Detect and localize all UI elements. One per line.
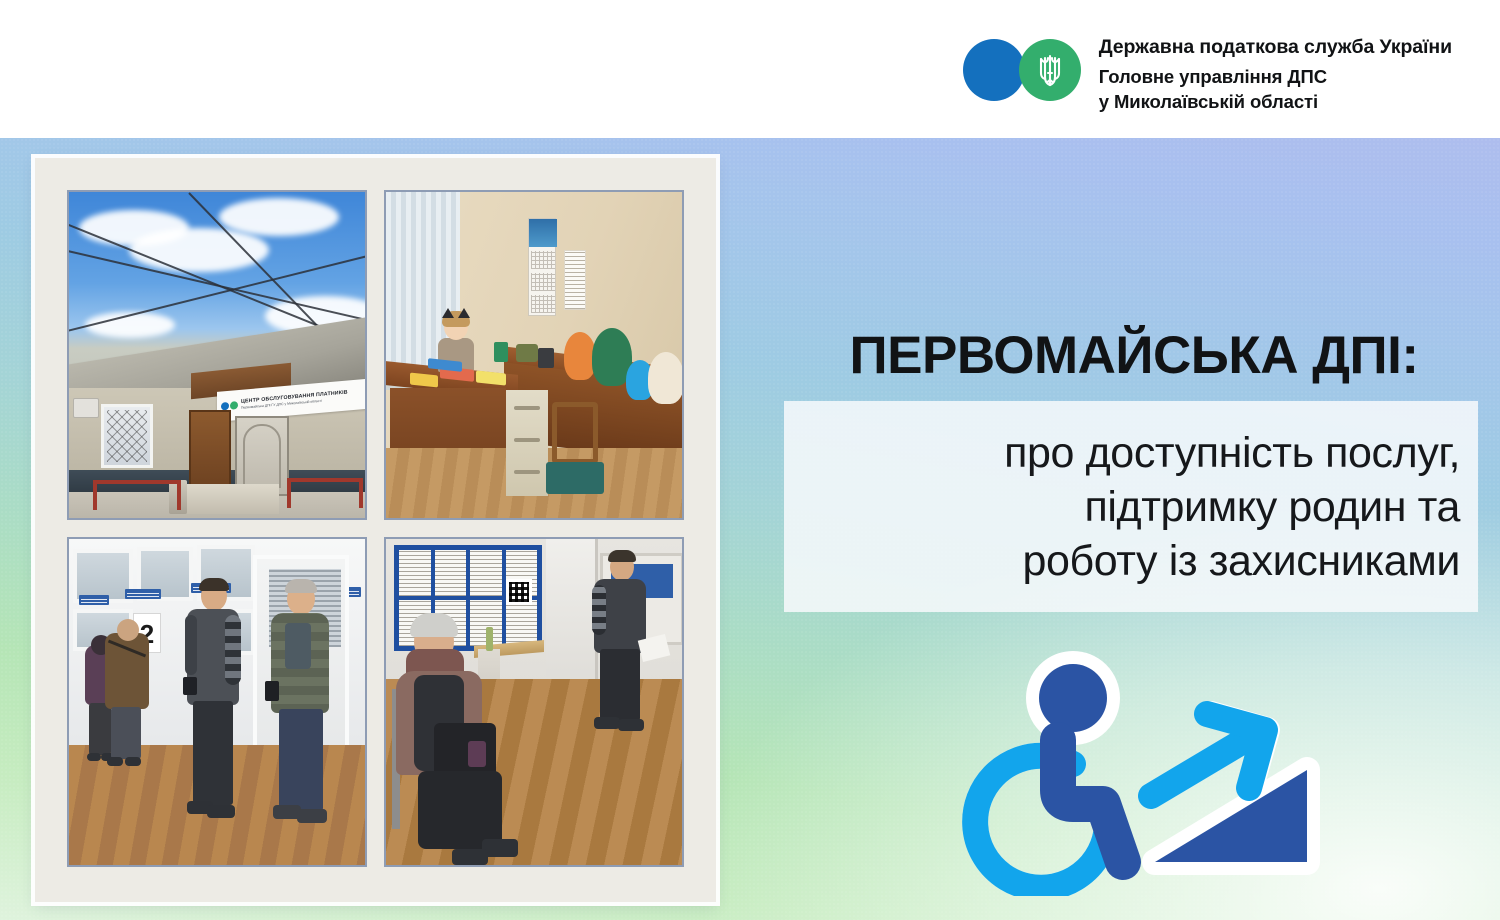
chair-back — [552, 402, 598, 464]
up-arrow-glyph — [1151, 714, 1265, 796]
dps-logo — [963, 34, 1081, 106]
photo-collage-grid: ЦЕНТР ОБСЛУГОВУВАННЯ ПЛАТНИКІВ Первомайс… — [67, 190, 684, 870]
org-title-line3: у Миколаївській області — [1099, 89, 1452, 114]
subtitle-panel: про доступність послуг, підтримку родин … — [784, 401, 1478, 612]
building-window — [101, 404, 153, 468]
calendar-photo — [529, 219, 557, 247]
visitor-person-brown-coat — [103, 619, 151, 771]
photo-child-play-corner — [384, 190, 684, 520]
subtitle-line-2: підтримку родин та — [1004, 480, 1460, 534]
rail-post — [287, 478, 291, 508]
toy-truck — [516, 344, 538, 362]
window-label-plate — [125, 589, 161, 599]
poster-canvas: ЦЕНТР ОБСЛУГОВУВАННЯ ПЛАТНИКІВ Первомайс… — [0, 138, 1500, 920]
ukraine-trident-icon — [1019, 39, 1081, 101]
subtitle-line-3: роботу із захисниками — [1004, 534, 1460, 588]
header-branding: Державна податкова служба України Головн… — [963, 34, 1452, 114]
photo-collage-frame: ЦЕНТР ОБСЛУГОВУВАННЯ ПЛАТНИКІВ Первомайс… — [35, 158, 716, 902]
seated-woman-figure — [390, 613, 520, 863]
logo-blue-circle-icon — [963, 39, 1025, 101]
bunny-plush-cream — [648, 352, 684, 404]
entrance-steps — [187, 484, 279, 514]
air-conditioner-unit — [73, 398, 99, 418]
qr-code-icon — [506, 579, 532, 605]
page-title: ПЕРВОМАЙСЬКА ДПІ: — [784, 326, 1484, 386]
wheelchair-user-glyph — [975, 664, 1123, 888]
handrail-left — [93, 480, 181, 484]
wooden-chair — [546, 402, 608, 514]
page-header: Державна податкова служба України Головн… — [0, 0, 1500, 138]
org-title-line1: Державна податкова служба України — [1099, 35, 1452, 59]
visitor-man-olive-jacket — [267, 583, 337, 833]
visitor-man-grey-vest — [181, 581, 245, 831]
rail-post — [93, 480, 97, 510]
sign-green-dot-icon — [230, 401, 238, 410]
desk-drawers — [506, 390, 548, 496]
subtitle-line-1: про доступність послуг, — [1004, 426, 1460, 480]
photo-service-hall-visitors: 2 — [67, 537, 367, 867]
pen-holder — [494, 342, 508, 362]
pencil-cup — [538, 348, 554, 368]
photo-seated-visitor-waiting-area — [384, 537, 684, 867]
window-label-plate — [79, 595, 109, 605]
rail-post — [177, 480, 181, 510]
photo-tax-office-building-exterior: ЦЕНТР ОБСЛУГОВУВАННЯ ПЛАТНИКІВ Первомайс… — [67, 190, 367, 520]
mobile-phone — [468, 741, 486, 767]
standing-man-figure — [590, 553, 656, 735]
handrail-right — [287, 478, 363, 482]
rail-post — [359, 478, 363, 508]
wheelchair-ramp-accessibility-icon — [955, 618, 1365, 896]
signboard-text: ЦЕНТР ОБСЛУГОВУВАННЯ ПЛАТНИКІВ Первомайс… — [241, 390, 348, 410]
wall-notice-sheet — [564, 250, 586, 310]
wall-calendar — [528, 218, 556, 316]
subtitle-text: про доступність послуг, підтримку родин … — [1004, 426, 1460, 588]
org-name-block: Державна податкова служба України Головн… — [1099, 34, 1452, 114]
cat-ear-headband-icon — [440, 308, 472, 318]
org-title-line2: Головне управління ДПС — [1099, 64, 1452, 89]
chair-seat — [546, 462, 604, 494]
